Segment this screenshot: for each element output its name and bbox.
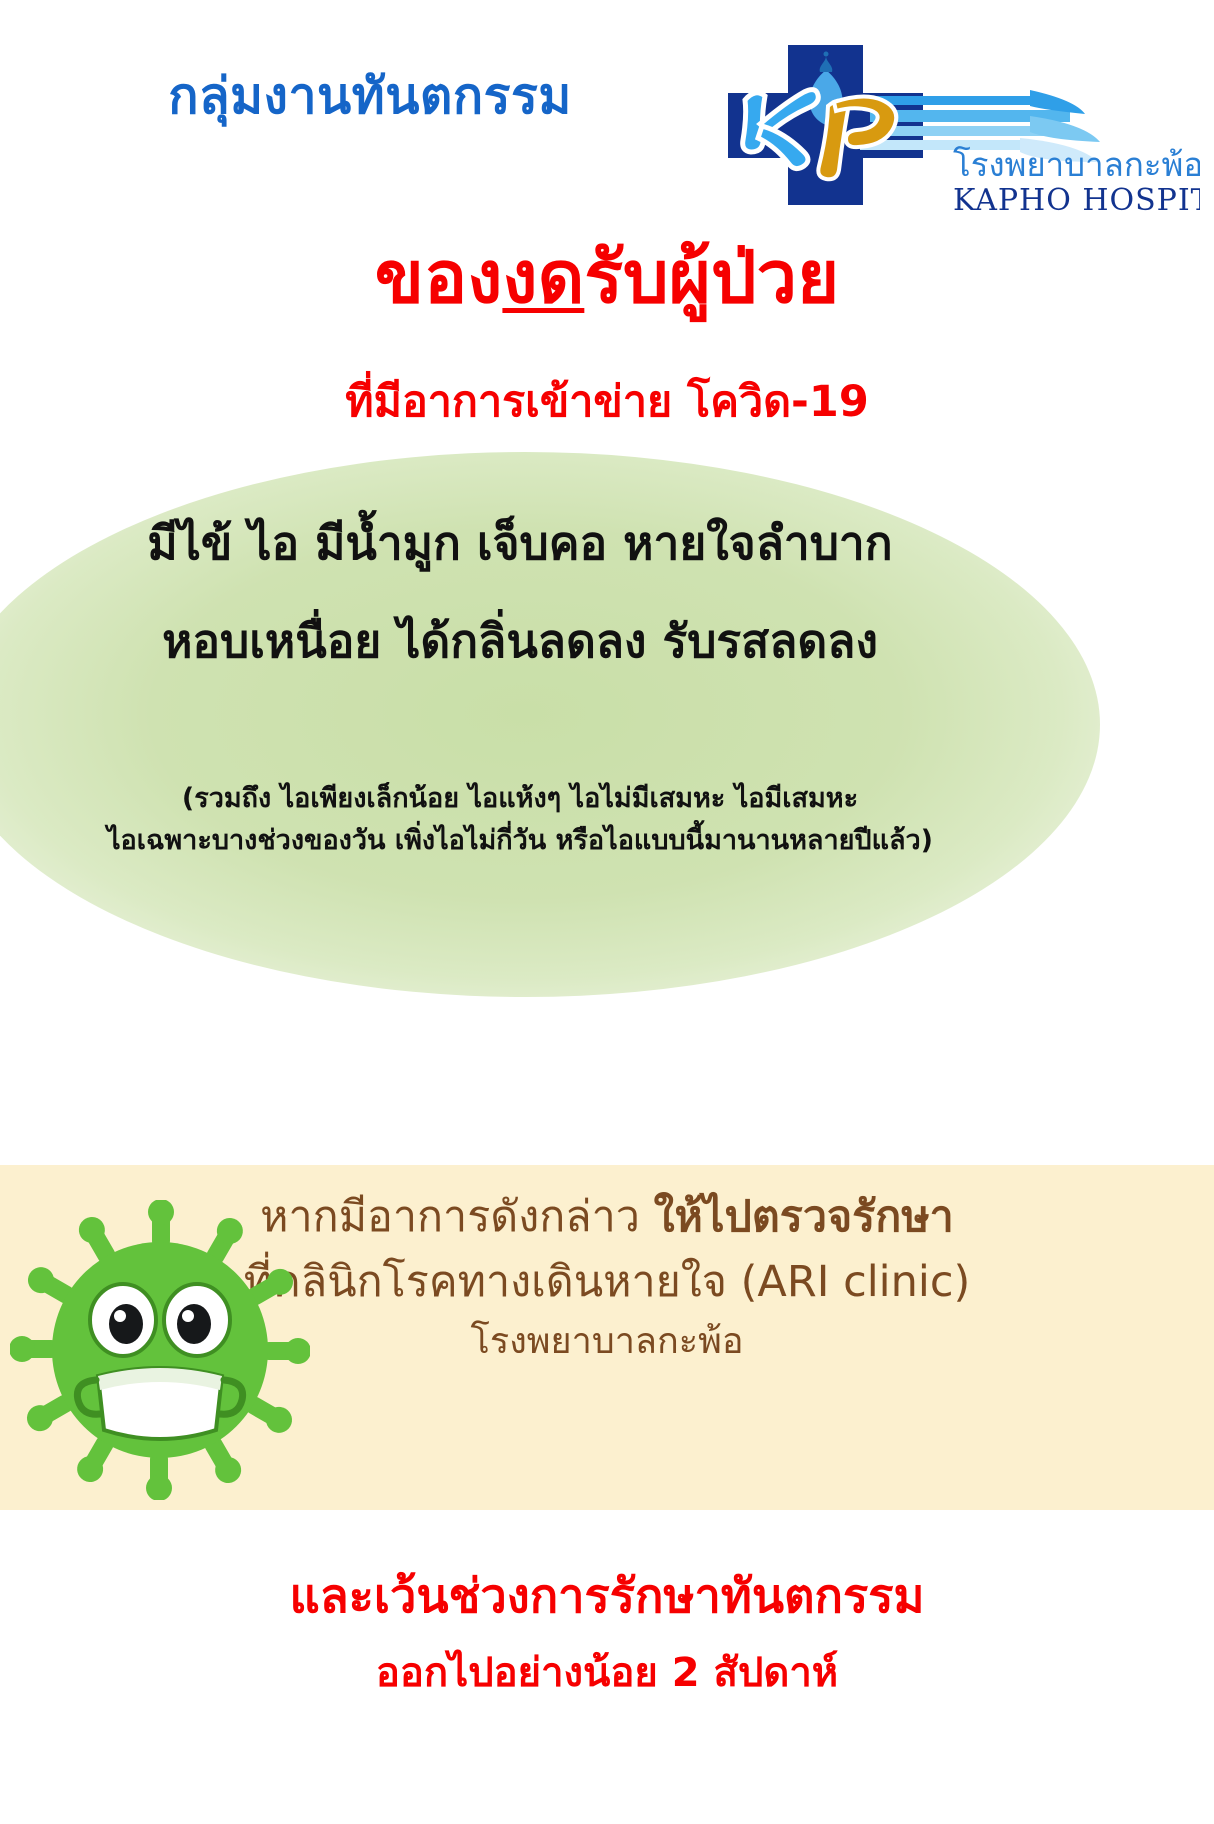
symptoms-note-line-1: (รวมถึง ไอเพียงเล็กน้อย ไอแห้งๆ ไอไม่มีเ… (0, 778, 1040, 820)
logo-hospital-thai: โรงพยาบาลกะพ้อ (953, 145, 1200, 184)
headline-part-before: ของ (375, 235, 503, 319)
headline-block: ของงดรับผู้ป่วย (0, 238, 1214, 317)
department-title: กลุ่มงานทันตกรรม (60, 68, 680, 126)
bottom-block: และเว้นช่วงการรักษาทันตกรรม ออกไปอย่างน้… (0, 1570, 1214, 1696)
hospital-logo-svg: โรงพยาบาลกะพ้อ KAPHO HOSPITAL (700, 30, 1200, 220)
bottom-line-2: ออกไปอย่างน้อย 2 สัปดาห์ (0, 1650, 1214, 1696)
headline-subtitle: ที่มีอาการเข้าข่าย โควิด-19 (0, 378, 1214, 427)
advice-line-1-plain: หากมีอาการดังกล่าว (260, 1192, 653, 1242)
logo-hospital-english: KAPHO HOSPITAL (953, 183, 1200, 218)
symptom-line-2: หอบเหนื่อย ได้กลิ่นลดลง รับรสลดลง (0, 618, 1040, 664)
headline-part-underlined: งด (502, 235, 584, 319)
virus-face-mask-icon (77, 1368, 242, 1439)
poster-root: กลุ่มงานทันตกรรม (0, 0, 1214, 1824)
hospital-logo: โรงพยาบาลกะพ้อ KAPHO HOSPITAL (700, 30, 1200, 220)
symptoms-note-line-2: ไอเฉพาะบางช่วงของวัน เพิ่งไอไม่กี่วัน หร… (0, 820, 1040, 862)
symptoms-note: (รวมถึง ไอเพียงเล็กน้อย ไอแห้งๆ ไอไม่มีเ… (0, 778, 1040, 862)
main-headline: ของงดรับผู้ป่วย (375, 238, 839, 317)
virus-mascot (10, 1200, 310, 1500)
poster-header: กลุ่มงานทันตกรรม (0, 0, 1214, 230)
symptoms-block: มีไข้ ไอ มีน้ำมูก เจ็บคอ หายใจลำบาก หอบเ… (0, 520, 1040, 716)
bottom-line-1: และเว้นช่วงการรักษาทันตกรรม (0, 1570, 1214, 1624)
virus-mascot-svg (10, 1200, 310, 1500)
symptom-line-1: มีไข้ ไอ มีน้ำมูก เจ็บคอ หายใจลำบาก (0, 520, 1040, 566)
headline-part-after: รับผู้ป่วย (584, 235, 839, 319)
advice-line-1-bold: ให้ไปตรวจรักษา (654, 1192, 954, 1242)
